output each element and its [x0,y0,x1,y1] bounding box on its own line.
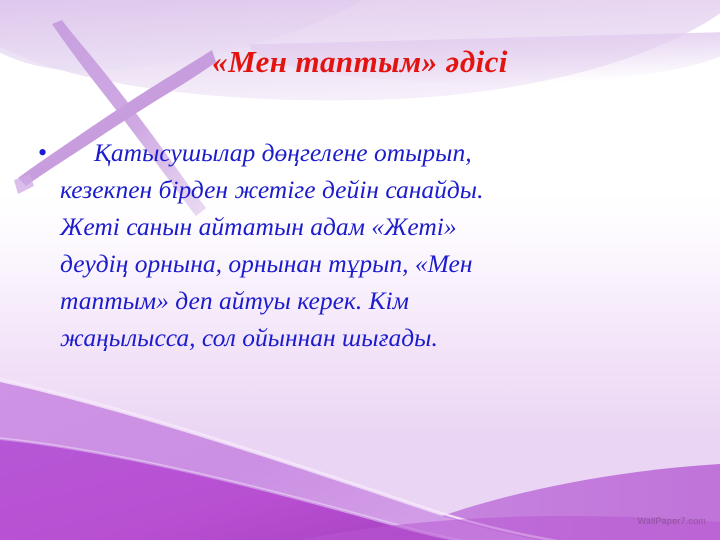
watermark-label: WallPaper7.com [638,516,707,526]
bullet-icon: • [38,134,60,168]
body-bullet-item: • Қатысушылар дөңгелене отырып, кезекпен… [38,134,678,356]
body-paragraph: Қатысушылар дөңгелене отырып, кезекпен б… [60,134,530,356]
bottom-curve-decoration [0,360,720,540]
page-title: «Мен таптым» әдісі [0,44,720,80]
slide-canvas: «Мен таптым» әдісі • Қатысушылар дөңгеле… [0,0,720,540]
